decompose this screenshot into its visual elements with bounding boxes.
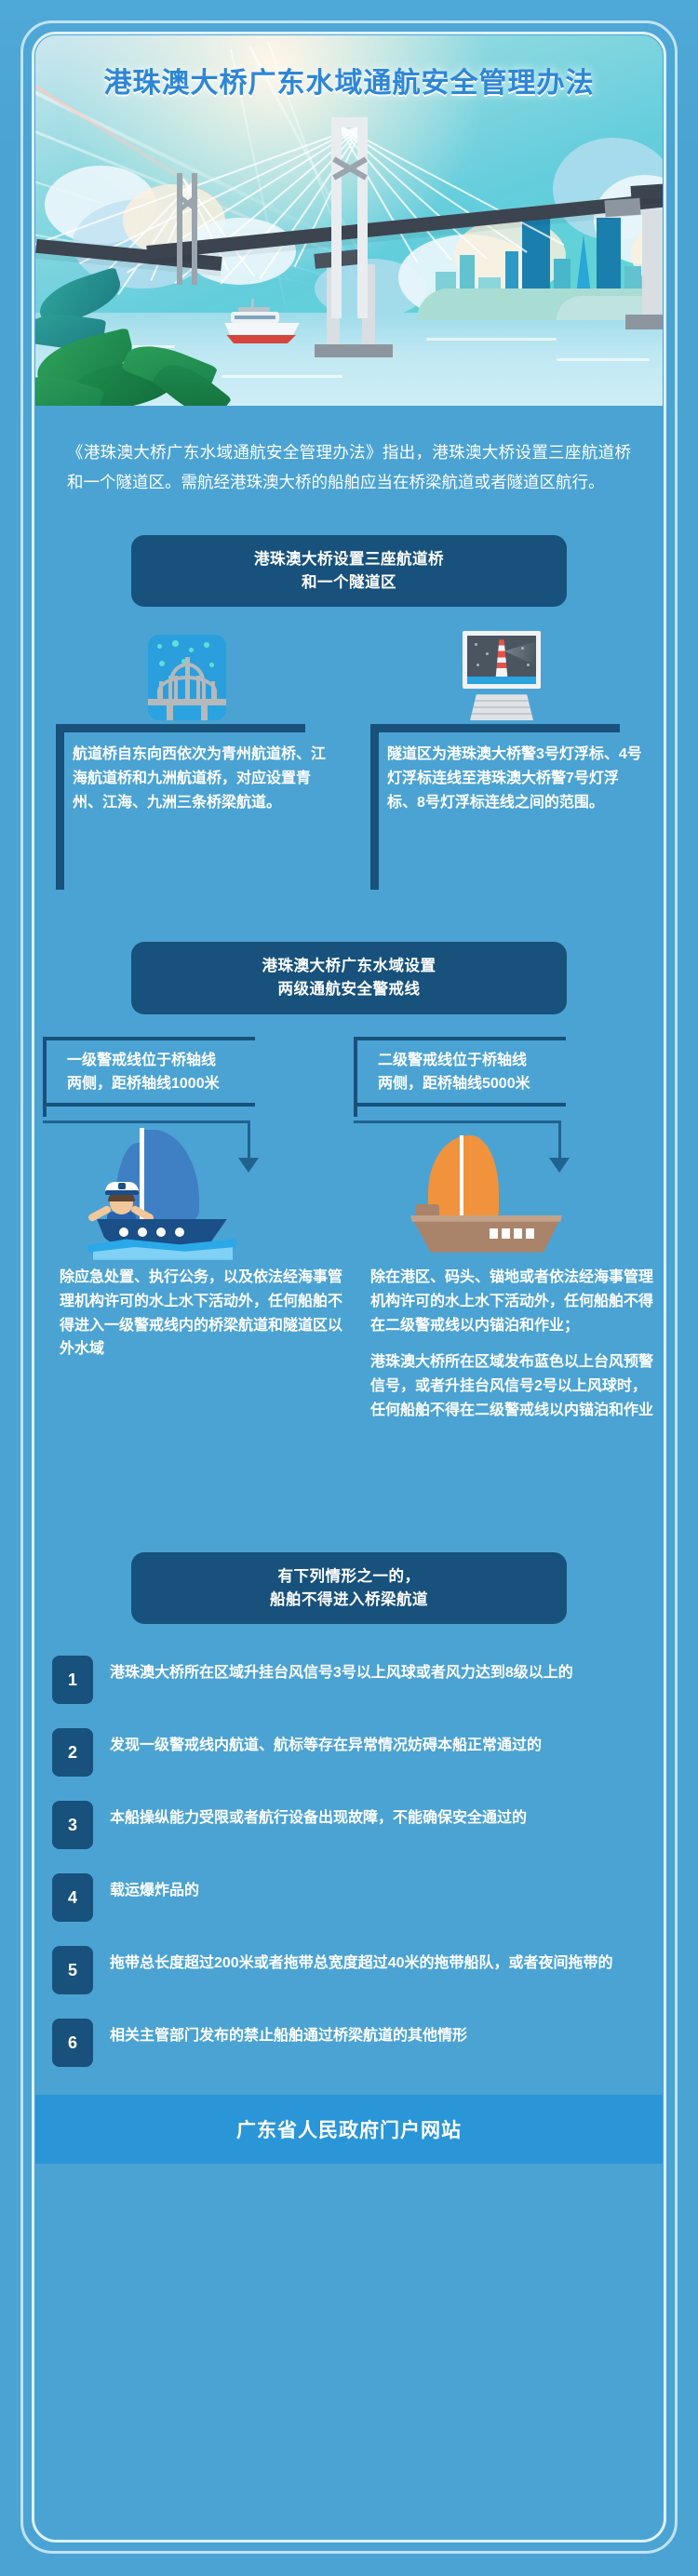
card-bracket-top xyxy=(370,724,620,732)
section1-banner: 港珠澳大桥设置三座航道桥 和一个隧道区 xyxy=(131,535,567,608)
list-item-text: 载运爆炸品的 xyxy=(110,1873,199,1903)
section1-card1-body: 航道桥自东向西依次为青州航道桥、江海航道桥和九洲航道桥，对应设置青州、江海、九洲… xyxy=(43,724,331,815)
level1-description: 除应急处置、执行公务，以及依法经海事管理机构许可的水上水下活动外，任何船舶不得进… xyxy=(43,1266,342,1362)
prohibition-list: 1 港珠澳大桥所在区域升挂台风信号3号以上风球或者风力达到8级以上的 2 发现一… xyxy=(35,1656,663,2067)
bridge-main-pylon xyxy=(357,117,368,318)
section1-card1-text: 航道桥自东向西依次为青州航道桥、江海航道桥和九洲航道桥，对应设置青州、江海、九洲… xyxy=(43,724,331,815)
section1-card-tunnel-zone: 隧道区为港珠澳大桥警3号灯浮标、4号灯浮标连线至港珠澳大桥警7号灯浮标、8号灯浮… xyxy=(357,631,646,815)
pier-bracket xyxy=(604,198,640,218)
hero-title: 港珠澳大桥广东水域通航安全管理办法 xyxy=(35,60,663,101)
pylon-top-cap xyxy=(331,117,368,127)
section2-descriptions: 除应急处置、执行公务，以及依法经海事管理机构许可的水上水下活动外，任何船舶不得进… xyxy=(35,1266,663,1545)
bridge-pylon-left xyxy=(192,173,197,285)
bridge-pier xyxy=(642,210,663,328)
level2-title-line2: 两侧，距桥轴线5000米 xyxy=(378,1073,637,1096)
list-item-number: 4 xyxy=(52,1873,93,1922)
section1-card2-body: 隧道区为港珠澳大桥警3号灯浮标、4号灯浮标连线至港珠澳大桥警7号灯浮标、8号灯浮… xyxy=(357,724,646,815)
list-item: 5 拖带总长度超过200米或者拖带总宽度超过40米的拖带船队，或者夜间拖带的 xyxy=(52,1946,650,1994)
pier-base xyxy=(315,344,352,357)
list-item: 6 相关主管部门发布的禁止船舶通过桥梁航道的其他情形 xyxy=(52,2019,650,2067)
lighthouse-photo-icon-wrap xyxy=(357,631,646,720)
level1-title-line2: 两侧，距桥轴线1000米 xyxy=(67,1073,326,1096)
list-item-text: 拖带总长度超过200米或者拖带总宽度超过40米的拖带船队，或者夜间拖带的 xyxy=(110,1946,613,1976)
level2-title-box: 二级警戒线位于桥轴线 两侧，距桥轴线5000米 xyxy=(352,1037,653,1107)
body-area: 《港珠澳大桥广东水域通航安全管理办法》指出，港珠澳大桥设置三座航道桥和一个隧道区… xyxy=(35,406,663,2180)
list-item: 3 本船操纵能力受限或者航行设备出现故障，不能确保安全通过的 xyxy=(52,1801,650,1849)
blue-sailboat-with-sailor-icon xyxy=(91,1128,231,1258)
list-item-number: 5 xyxy=(52,1946,93,1994)
section3-banner-line2: 船舶不得进入桥梁航道 xyxy=(141,1589,557,1612)
bridge-night-icon-wrap xyxy=(43,631,331,720)
footer-text: 广东省人民政府门户网站 xyxy=(236,2120,462,2141)
ferry-boat-icon xyxy=(221,307,300,344)
level1-title-box: 一级警戒线位于桥轴线 两侧，距桥轴线1000米 xyxy=(41,1037,342,1107)
list-item: 4 载运爆炸品的 xyxy=(52,1873,650,1922)
orange-sail-junk-boat-icon xyxy=(406,1135,564,1253)
infographic-content: 港珠澳大桥广东水域通航安全管理办法 xyxy=(35,35,663,2539)
bridge-main-pylon xyxy=(331,117,342,318)
section1-card-row: 航道桥自东向西依次为青州航道桥、江海航道桥和九洲航道桥，对应设置青州、江海、九洲… xyxy=(35,631,663,901)
water-ripple xyxy=(426,338,557,341)
card-bracket-top xyxy=(56,724,305,732)
pier-base xyxy=(625,315,663,329)
section1-card-navigation-bridges: 航道桥自东向西依次为青州航道桥、江海航道桥和九洲航道桥，对应设置青州、江海、九洲… xyxy=(43,631,331,815)
level2-description: 除在港区、码头、锚地或者依法经海事管理机构许可的水上水下活动外，任何船舶不得在二… xyxy=(354,1266,653,1423)
section3-banner-line1: 有下列情形之一的， xyxy=(141,1565,557,1589)
level2-title-line1: 二级警戒线位于桥轴线 xyxy=(378,1050,637,1073)
level1-description-text: 除应急处置、执行公务，以及依法经海事管理机构许可的水上水下活动外，任何船舶不得进… xyxy=(60,1266,342,1362)
list-item-text: 港珠澳大桥所在区域升挂台风信号3号以上风球或者风力达到8级以上的 xyxy=(110,1656,573,1685)
section2-banner-line1: 港珠澳大桥广东水域设置 xyxy=(141,955,557,978)
section1-banner-line2: 和一个隧道区 xyxy=(141,571,557,595)
list-item-number: 6 xyxy=(52,2019,93,2067)
infographic-page: 港珠澳大桥广东水域通航安全管理办法 xyxy=(0,0,698,2576)
level1-title-line1: 一级警戒线位于桥轴线 xyxy=(67,1050,326,1073)
card-bracket-side xyxy=(370,724,379,890)
water-ripple xyxy=(557,358,650,361)
bridge-night-icon xyxy=(148,635,226,720)
list-item-number: 3 xyxy=(52,1801,93,1849)
level2-description-text-2: 港珠澳大桥所在区域发布蓝色以上台风预警信号，或者升挂台风信号2号以上风球时，任何… xyxy=(370,1350,653,1423)
level2-description-text-1: 除在港区、码头、锚地或者依法经海事管理机构许可的水上水下活动外，任何船舶不得在二… xyxy=(370,1266,653,1338)
list-item-text: 本船操纵能力受限或者航行设备出现故障，不能确保安全通过的 xyxy=(110,1801,527,1831)
footer-bar: 广东省人民政府门户网站 xyxy=(35,2095,663,2164)
list-item-text: 发现一级警戒线内航道、航标等存在异常情况妨碍本船正常通过的 xyxy=(110,1728,542,1758)
bridge-pylon-left xyxy=(177,173,182,285)
pier-base xyxy=(352,344,393,357)
section1-card2-text: 隧道区为港珠澳大桥警3号灯浮标、4号灯浮标连线至港珠澳大桥警7号灯浮标、8号灯浮… xyxy=(357,724,646,815)
list-item-number: 2 xyxy=(52,1728,93,1777)
list-item: 1 港珠澳大桥所在区域升挂台风信号3号以上风球或者风力达到8级以上的 xyxy=(52,1656,650,1704)
list-item-number: 1 xyxy=(52,1656,93,1704)
card-bracket-side xyxy=(56,724,64,890)
section3-banner: 有下列情形之一的， 船舶不得进入桥梁航道 xyxy=(131,1552,567,1625)
list-item: 2 发现一级警戒线内航道、航标等存在异常情况妨碍本船正常通过的 xyxy=(52,1728,650,1777)
section2-banner-line2: 两级通航安全警戒线 xyxy=(141,978,557,1001)
lighthouse-photo-icon xyxy=(457,631,546,720)
section2-boat-row xyxy=(35,1122,663,1262)
section2-banner: 港珠澳大桥广东水域设置 两级通航安全警戒线 xyxy=(131,942,567,1014)
water-ripple xyxy=(221,375,342,378)
list-item-text: 相关主管部门发布的禁止船舶通过桥梁航道的其他情形 xyxy=(110,2019,467,2048)
section2-level-titles: 一级警戒线位于桥轴线 两侧，距桥轴线1000米 二级警戒线位于桥轴线 两侧，距桥… xyxy=(35,1037,663,1122)
intro-paragraph: 《港珠澳大桥广东水域通航安全管理办法》指出，港珠澳大桥设置三座航道桥和一个隧道区… xyxy=(35,406,663,507)
footer-spacer xyxy=(35,2164,663,2180)
hero-banner: 港珠澳大桥广东水域通航安全管理办法 xyxy=(35,35,663,406)
section1-banner-line1: 港珠澳大桥设置三座航道桥 xyxy=(141,548,557,571)
